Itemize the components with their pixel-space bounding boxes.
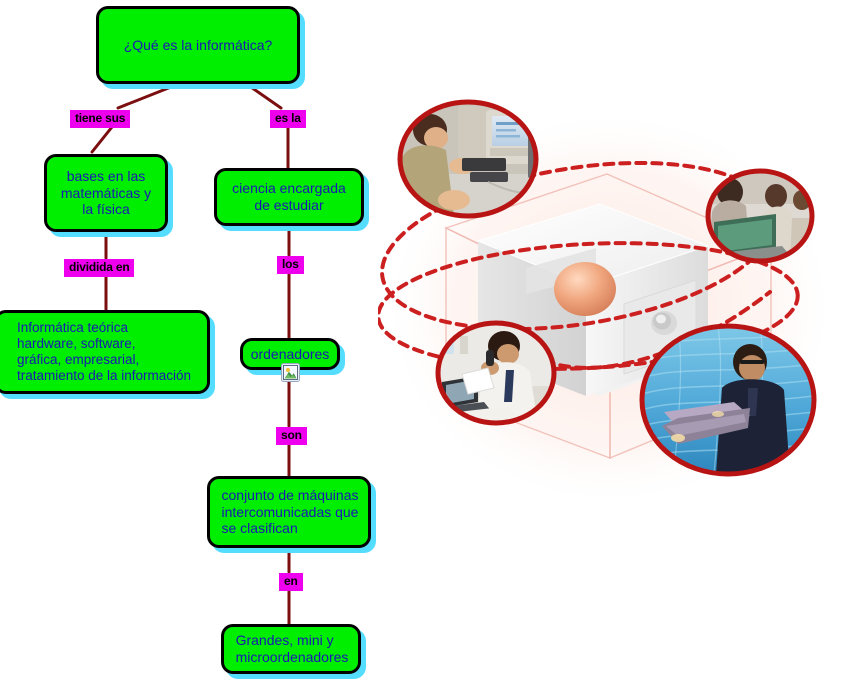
node-label: Grandes, mini y microordenadores xyxy=(228,632,355,665)
link-label-en[interactable]: en xyxy=(279,573,303,591)
node-label: Informática teórica hardware, software, … xyxy=(7,320,197,384)
link-label-es-la[interactable]: es la xyxy=(270,110,306,128)
picture-placeholder-icon[interactable] xyxy=(281,363,300,382)
node-label: conjunto de máquinas intercomunicadas qu… xyxy=(214,487,365,537)
node-bases-matematicas-fisica[interactable]: bases en las matemáticas y la física xyxy=(44,154,168,232)
photo-bottom-right xyxy=(642,326,814,474)
orange-sphere xyxy=(554,262,616,316)
node-conjunto-maquinas[interactable]: conjunto de máquinas intercomunicadas qu… xyxy=(207,476,371,548)
artwork-illustration xyxy=(378,96,841,516)
node-label: ciencia encargada de estudiar xyxy=(226,180,352,213)
link-label-dividida-en[interactable]: dividida en xyxy=(64,259,134,277)
node-informatica-ramas[interactable]: Informática teórica hardware, software, … xyxy=(0,310,210,394)
link-label-los[interactable]: los xyxy=(277,256,304,274)
node-label: ordenadores xyxy=(245,346,336,363)
node-root-question[interactable]: ¿Qué es la informática? xyxy=(96,6,300,84)
node-label: bases en las matemáticas y la física xyxy=(55,168,157,218)
node-label: ¿Qué es la informática? xyxy=(118,37,279,54)
node-ciencia-encargada[interactable]: ciencia encargada de estudiar xyxy=(214,168,364,226)
concept-map-canvas: ¿Qué es la informática? bases en las mat… xyxy=(0,0,841,681)
link-label-son[interactable]: son xyxy=(276,427,307,445)
node-grandes-mini-micro[interactable]: Grandes, mini y microordenadores xyxy=(221,624,361,674)
link-label-tiene-sus[interactable]: tiene sus xyxy=(70,110,130,128)
